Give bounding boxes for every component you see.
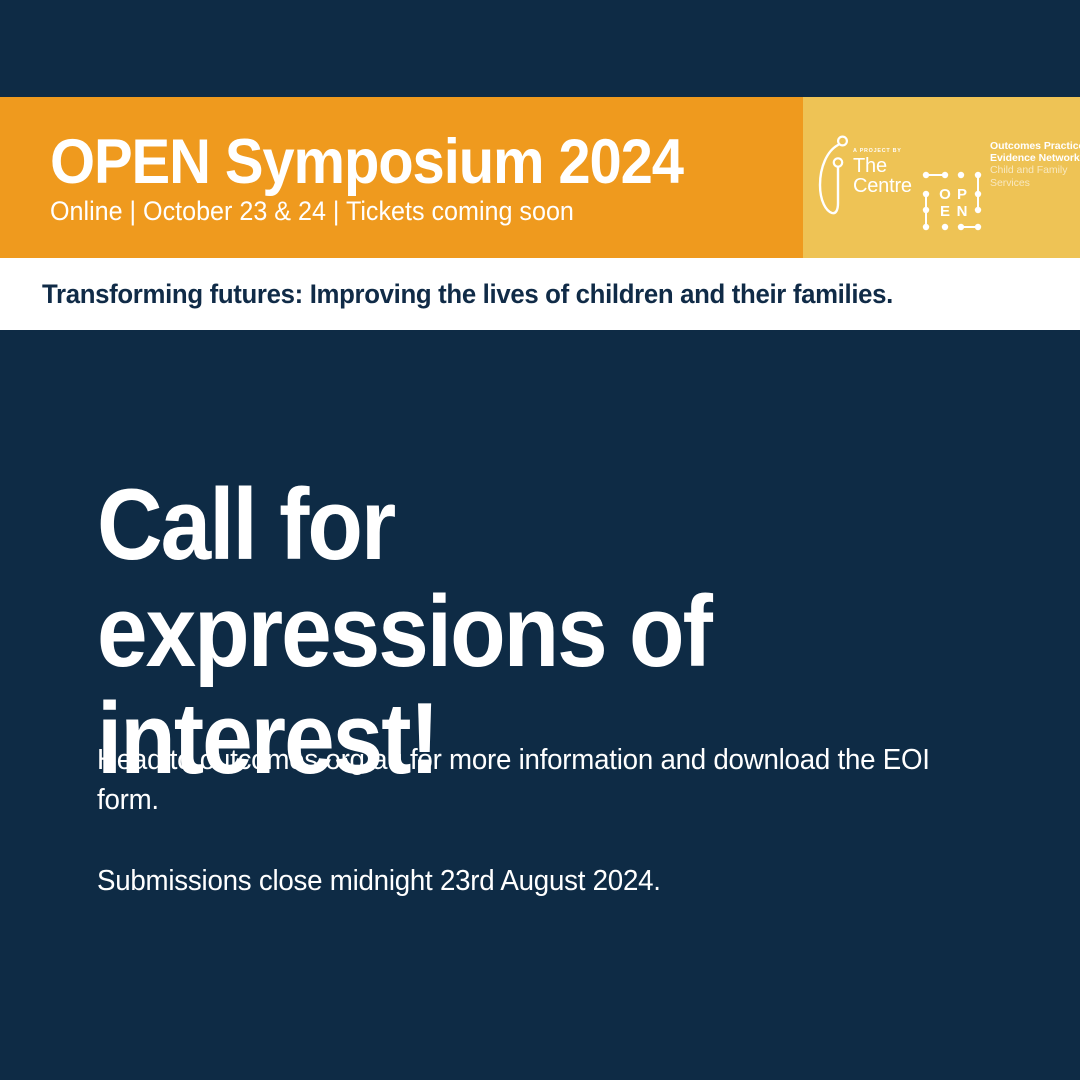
header-band: OPEN Symposium 2024 Online | October 23 … bbox=[0, 97, 1080, 258]
header-orange-panel: OPEN Symposium 2024 Online | October 23 … bbox=[0, 97, 803, 258]
open-letter-n: N bbox=[957, 203, 968, 220]
open-letter-e: E bbox=[940, 203, 950, 220]
project-by-label: A PROJECT BY bbox=[853, 149, 915, 154]
poster-canvas: OPEN Symposium 2024 Online | October 23 … bbox=[0, 0, 1080, 1080]
open-descriptor: Outcomes Practice Evidence Network Child… bbox=[990, 140, 1080, 189]
open-descriptor-line1: Outcomes Practice bbox=[990, 140, 1080, 152]
centre-swirl-icon bbox=[817, 133, 851, 217]
event-title: OPEN Symposium 2024 bbox=[50, 131, 743, 194]
centre-name-line2: Centre bbox=[853, 177, 915, 196]
open-descriptor-line4: Services bbox=[990, 177, 1080, 189]
body-block: Head to outcomes.org.au for more informa… bbox=[97, 740, 977, 901]
tagline-text: Transforming futures: Improving the live… bbox=[42, 279, 893, 310]
event-meta: Online | October 23 & 24 | Tickets comin… bbox=[50, 198, 750, 225]
body-paragraph-1: Head to outcomes.org.au for more informa… bbox=[97, 740, 937, 820]
the-centre-logo: A PROJECT BY The Centre bbox=[815, 129, 911, 221]
centre-name-line1: The bbox=[853, 157, 915, 176]
logo-lockup: A PROJECT BY The Centre bbox=[815, 127, 1080, 227]
body-paragraph-2: Submissions close midnight 23rd August 2… bbox=[97, 861, 937, 901]
open-descriptor-line2: Evidence Network bbox=[990, 152, 1080, 164]
open-letter-p: P bbox=[957, 186, 967, 203]
open-letter-o: O bbox=[939, 186, 951, 203]
open-descriptor-line3: Child and Family bbox=[990, 164, 1080, 176]
the-centre-wordmark: A PROJECT BY The Centre bbox=[853, 149, 915, 196]
header-gold-panel: A PROJECT BY The Centre bbox=[803, 97, 1080, 258]
open-dot-grid-icon: O P E N bbox=[920, 169, 984, 233]
tagline-bar: Transforming futures: Improving the live… bbox=[0, 258, 1080, 330]
